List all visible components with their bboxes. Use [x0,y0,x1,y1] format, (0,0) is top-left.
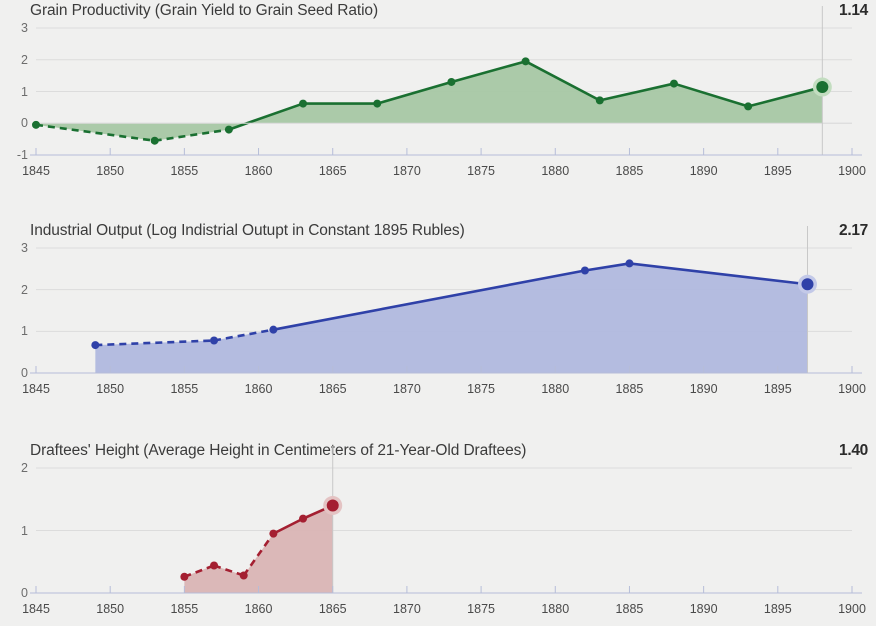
data-point[interactable] [180,573,188,581]
plot-area-grain-productivity [0,0,876,220]
data-point[interactable] [447,78,455,86]
chart-dashboard: Grain Productivity (Grain Yield to Grain… [0,0,876,626]
x-tick-label: 1860 [245,164,273,178]
y-tick-label: 2 [2,53,28,67]
x-tick-label: 1845 [22,382,50,396]
x-tick-label: 1895 [764,382,792,396]
x-tick-label: 1900 [838,602,866,616]
x-tick-label: 1865 [319,602,347,616]
x-tick-label: 1855 [170,164,198,178]
y-tick-label: 0 [2,116,28,130]
x-tick-label: 1875 [467,164,495,178]
data-point-current[interactable] [327,500,339,512]
data-point[interactable] [269,326,277,334]
y-tick-label: 2 [2,461,28,475]
data-point[interactable] [225,126,233,134]
data-point[interactable] [522,57,530,65]
area-fill-draftees-height [184,506,332,594]
x-tick-label: 1900 [838,382,866,396]
x-tick-label: 1850 [96,164,124,178]
area-fill-industrial-output [95,263,807,373]
chart-panel-industrial-output: Industrial Output (Log Indistrial Outupt… [0,220,876,440]
data-point[interactable] [210,337,218,345]
x-tick-label: 1900 [838,164,866,178]
x-tick-label: 1885 [616,602,644,616]
data-point[interactable] [299,100,307,108]
chart-panel-draftees-height: Draftees' Height (Average Height in Cent… [0,440,876,626]
y-tick-label: 3 [2,241,28,255]
y-tick-label: 3 [2,21,28,35]
data-point[interactable] [596,96,604,104]
x-tick-label: 1845 [22,164,50,178]
data-point[interactable] [240,572,248,580]
x-tick-label: 1885 [616,164,644,178]
x-tick-label: 1885 [616,382,644,396]
area-fill-grain-productivity [36,61,822,140]
x-tick-label: 1870 [393,382,421,396]
x-tick-label: 1865 [319,164,347,178]
x-tick-label: 1850 [96,382,124,396]
y-tick-label: -1 [2,148,28,162]
data-point[interactable] [299,515,307,523]
y-tick-label: 1 [2,324,28,338]
x-tick-label: 1855 [170,602,198,616]
data-point[interactable] [32,121,40,129]
data-point[interactable] [744,102,752,110]
data-point[interactable] [269,530,277,538]
x-tick-label: 1870 [393,164,421,178]
y-tick-label: 1 [2,85,28,99]
x-tick-label: 1890 [690,382,718,396]
data-point[interactable] [91,341,99,349]
x-tick-label: 1880 [541,382,569,396]
data-point[interactable] [670,80,678,88]
x-tick-label: 1890 [690,602,718,616]
data-point[interactable] [625,259,633,267]
plot-area-draftees-height [0,440,876,626]
x-tick-label: 1890 [690,164,718,178]
y-tick-label: 1 [2,524,28,538]
x-tick-label: 1875 [467,602,495,616]
x-tick-label: 1845 [22,602,50,616]
x-tick-label: 1855 [170,382,198,396]
plot-area-industrial-output [0,220,876,440]
data-point[interactable] [373,100,381,108]
x-tick-label: 1860 [245,382,273,396]
x-tick-label: 1875 [467,382,495,396]
chart-panel-grain-productivity: Grain Productivity (Grain Yield to Grain… [0,0,876,220]
y-tick-label: 0 [2,586,28,600]
x-tick-label: 1880 [541,602,569,616]
x-tick-label: 1895 [764,602,792,616]
x-tick-label: 1880 [541,164,569,178]
x-tick-label: 1865 [319,382,347,396]
data-point[interactable] [151,137,159,145]
data-point-current[interactable] [816,81,828,93]
data-point[interactable] [581,267,589,275]
y-tick-label: 0 [2,366,28,380]
x-tick-label: 1895 [764,164,792,178]
data-point-current[interactable] [801,278,813,290]
x-tick-label: 1860 [245,602,273,616]
x-tick-label: 1870 [393,602,421,616]
x-tick-label: 1850 [96,602,124,616]
y-tick-label: 2 [2,283,28,297]
data-point[interactable] [210,562,218,570]
